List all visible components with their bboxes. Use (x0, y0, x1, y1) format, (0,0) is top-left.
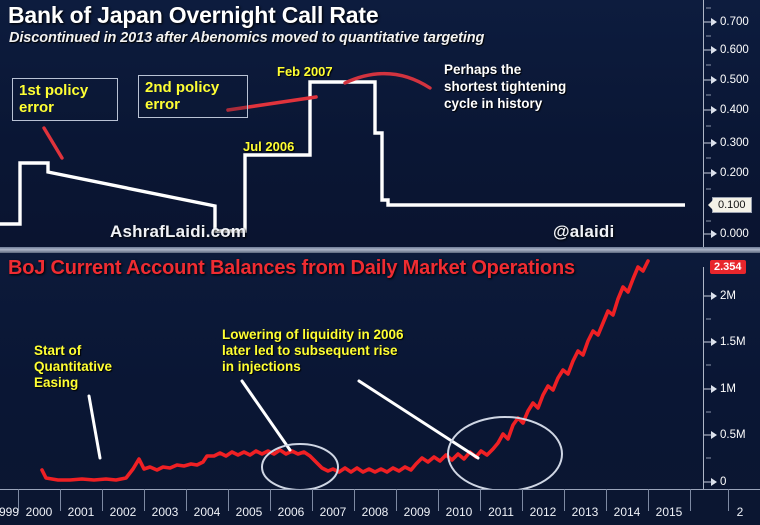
x-axis-label: 2013 (572, 505, 599, 519)
x-axis-label: 2005 (236, 505, 263, 519)
highlight-ellipse-2011 (448, 417, 562, 491)
top-axis-minor-tick-6 (706, 158, 711, 159)
x-axis-label: 2003 (152, 505, 179, 519)
annotation-label-jul-2006: Jul 2006 (243, 139, 294, 154)
pointer-liquidity-2006 (242, 381, 290, 450)
watermark-handle: @alaidi (553, 222, 614, 242)
bottom-axis-current-value-badge: 2.354 (710, 260, 746, 274)
bottom-axis-minor-tick-4 (706, 458, 711, 459)
bottom-chart-panel: BoJ Current Account Balances from Daily … (0, 253, 760, 525)
annotation-first-policy-error-line2: error (19, 99, 111, 116)
highlight-ellipse-2006 (262, 444, 338, 490)
bottom-axis-tick-1m (704, 389, 713, 390)
pointer-liquidity-rise (359, 381, 478, 458)
top-axis-tick-0700 (704, 22, 713, 23)
bottom-axis-label-15m: 1.5M (720, 336, 746, 348)
annotation-tightening-cycle-line3: cycle in history (444, 96, 542, 112)
x-axis-separator (228, 489, 229, 511)
x-axis-label: 2004 (194, 505, 221, 519)
top-axis-minor-tick-7 (706, 189, 711, 190)
x-axis-label: 2002 (110, 505, 137, 519)
bottom-axis-tick-05m (704, 435, 713, 436)
annotation-label-feb-2007: Feb 2007 (277, 64, 333, 79)
top-axis-tick-0200 (704, 173, 713, 174)
top-axis-current-value-badge: 0.100 (712, 197, 752, 213)
x-axis-label: 2006 (278, 505, 305, 519)
top-axis-minor-tick-1 (706, 8, 711, 9)
top-axis-tick-0300 (704, 143, 713, 144)
x-axis-label: 2001 (68, 505, 95, 519)
x-axis-separator (564, 489, 565, 511)
annotation-box-second-policy-error: 2nd policy error (138, 75, 248, 118)
top-axis-tick-0400 (704, 110, 713, 111)
top-axis-line (703, 0, 704, 247)
x-axis-separator (648, 489, 649, 511)
x-axis-label: 2009 (404, 505, 431, 519)
bottom-axis-tick-0 (704, 482, 713, 483)
annotation-second-policy-error-line1: 2nd policy (145, 79, 241, 96)
x-axis-separator (480, 489, 481, 511)
top-axis-label-0000: 0.000 (720, 228, 749, 240)
x-axis-label: 2000 (26, 505, 53, 519)
bottom-axis-tick-2m (704, 296, 713, 297)
top-axis-tick-0600 (704, 50, 713, 51)
x-axis-separator (270, 489, 271, 511)
top-axis-minor-tick-8 (706, 221, 711, 222)
bottom-axis-minor-tick-2 (706, 365, 711, 366)
x-axis-separator (606, 489, 607, 511)
annotation-tightening-cycle-line1: Perhaps the (444, 62, 521, 78)
x-axis-separator (728, 489, 729, 511)
x-axis-separator (522, 489, 523, 511)
infographic-root: Bank of Japan Overnight Call Rate Discon… (0, 0, 760, 525)
top-axis-tick-0000 (704, 234, 713, 235)
pointer-tightening-arc (0, 0, 700, 247)
annotation-tightening-cycle-line2: shortest tightening (444, 79, 566, 95)
x-axis-separator (102, 489, 103, 511)
watermark-site: AshrafLaidi.com (110, 222, 246, 242)
x-axis-separator (438, 489, 439, 511)
bottom-axis-label-1m: 1M (720, 383, 736, 395)
bottom-axis-label-2m: 2M (720, 290, 736, 302)
bottom-axis-label-0: 0 (720, 476, 726, 488)
x-axis-label: 2 (737, 505, 744, 519)
top-chart-panel: Bank of Japan Overnight Call Rate Discon… (0, 0, 760, 247)
x-axis-rule (0, 489, 760, 490)
x-axis-label: 2008 (362, 505, 389, 519)
top-axis-minor-tick-4 (706, 95, 711, 96)
bottom-axis-line (703, 267, 704, 499)
bottom-axis-tick-15m (704, 342, 713, 343)
top-axis-label-0500: 0.500 (720, 74, 749, 86)
bottom-axis-minor-tick-3 (706, 412, 711, 413)
bottom-axis-label-05m: 0.5M (720, 429, 746, 441)
x-axis-separator (396, 489, 397, 511)
x-axis-separator (690, 489, 691, 511)
x-axis-separator (312, 489, 313, 511)
top-axis-label-0200: 0.200 (720, 167, 749, 179)
top-axis-label-0600: 0.600 (720, 44, 749, 56)
x-axis-label: 2014 (614, 505, 641, 519)
x-axis-separator (354, 489, 355, 511)
x-axis: 999 2000 2001 2002 2003 2004 2005 2006 2… (0, 489, 760, 525)
x-axis-label: 999 (0, 505, 19, 519)
annotation-first-policy-error-line1: 1st policy (19, 82, 111, 99)
bottom-chart-y-axis: 2.354 2M 1.5M 1M 0.5M 0 (700, 253, 760, 491)
top-axis-label-0400: 0.400 (720, 104, 749, 116)
x-axis-label: 2010 (446, 505, 473, 519)
x-axis-separator (186, 489, 187, 511)
top-axis-minor-tick-3 (706, 65, 711, 66)
x-axis-label: 2007 (320, 505, 347, 519)
x-axis-label: 2011 (488, 505, 514, 519)
top-axis-minor-tick-2 (706, 36, 711, 37)
annotation-box-first-policy-error: 1st policy error (12, 78, 118, 121)
x-axis-label: 2012 (530, 505, 557, 519)
top-axis-minor-tick-5 (706, 126, 711, 127)
x-axis-label: 2015 (656, 505, 683, 519)
top-axis-label-0700: 0.700 (720, 16, 749, 28)
x-axis-separator (60, 489, 61, 511)
bottom-axis-minor-tick-1 (706, 319, 711, 320)
top-chart-y-axis: 0.700 0.600 0.500 0.400 0.300 0.200 0.10… (700, 0, 760, 247)
top-axis-tick-0500 (704, 80, 713, 81)
annotation-second-policy-error-line2: error (145, 96, 241, 113)
pointer-qe-start (89, 396, 100, 458)
bottom-chart-pointers (0, 253, 700, 491)
x-axis-separator (144, 489, 145, 511)
top-axis-label-0300: 0.300 (720, 137, 749, 149)
